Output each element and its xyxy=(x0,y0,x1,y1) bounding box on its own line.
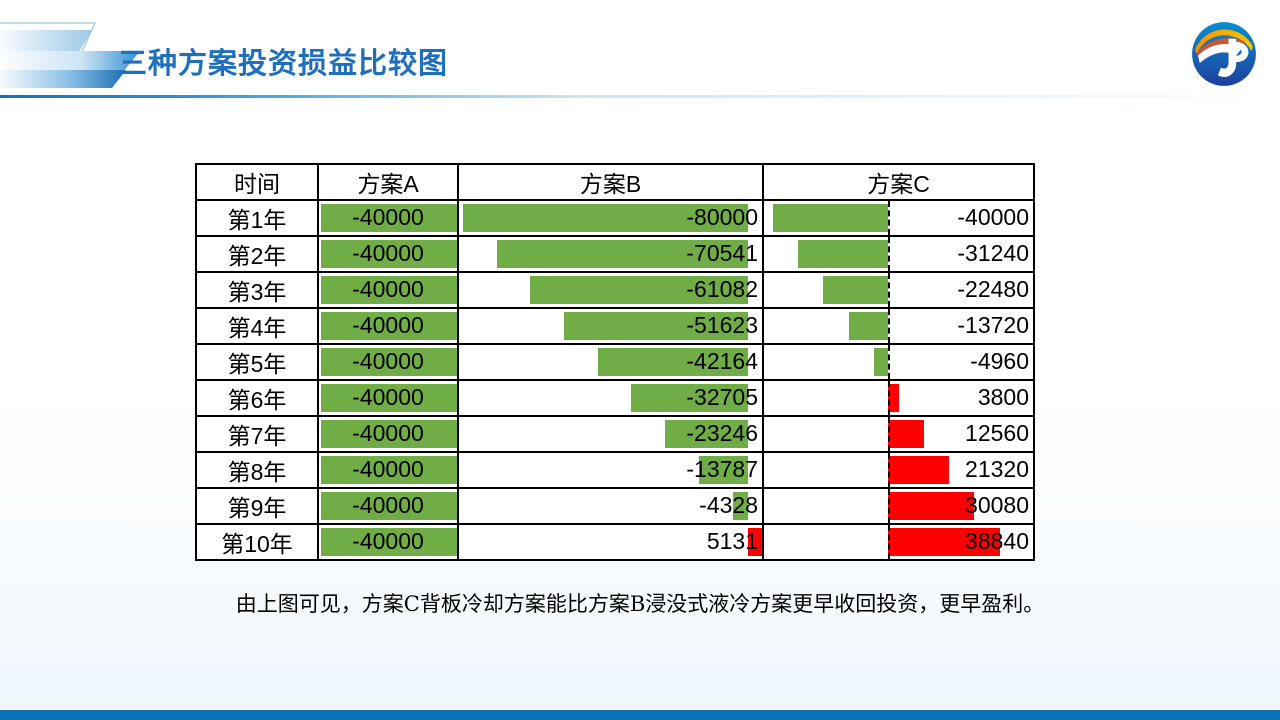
page-title: 三种方案投资损益比较图 xyxy=(118,40,448,82)
table-header-row: 时间 方案A 方案B 方案C xyxy=(196,164,1034,200)
value-plan-c: 38840 xyxy=(764,525,1033,559)
value-plan-b: -80000 xyxy=(459,201,762,235)
cell-plan-a: -40000 xyxy=(318,200,458,236)
value-plan-a: -40000 xyxy=(319,381,457,415)
cell-plan-c: 3800 xyxy=(763,380,1034,416)
row-label-time: 第10年 xyxy=(196,524,318,560)
table-row: 第6年-40000-327053800 xyxy=(196,380,1034,416)
cell-plan-c: 21320 xyxy=(763,452,1034,488)
cell-plan-b: 5131 xyxy=(458,524,763,560)
value-plan-c: -31240 xyxy=(764,237,1033,271)
cell-plan-b: -42164 xyxy=(458,344,763,380)
value-plan-c: 12560 xyxy=(764,417,1033,451)
cell-plan-b: -51623 xyxy=(458,308,763,344)
caption-text: 由上图可见，方案C背板冷却方案能比方案B浸没式液冷方案更早收回投资，更早盈利。 xyxy=(0,588,1280,618)
cell-plan-b: -23246 xyxy=(458,416,763,452)
cell-plan-c: -4960 xyxy=(763,344,1034,380)
column-header-time: 时间 xyxy=(196,164,318,200)
cell-plan-b: -4328 xyxy=(458,488,763,524)
table-row: 第10年-40000513138840 xyxy=(196,524,1034,560)
table-row: 第7年-40000-2324612560 xyxy=(196,416,1034,452)
cell-plan-a: -40000 xyxy=(318,488,458,524)
value-plan-c: -13720 xyxy=(764,309,1033,343)
cell-plan-c: -13720 xyxy=(763,308,1034,344)
table-row: 第1年-40000-80000-40000 xyxy=(196,200,1034,236)
value-plan-b: -51623 xyxy=(459,309,762,343)
value-plan-a: -40000 xyxy=(319,345,457,379)
company-logo-icon xyxy=(1186,16,1262,92)
value-plan-c: 21320 xyxy=(764,453,1033,487)
cell-plan-a: -40000 xyxy=(318,272,458,308)
value-plan-b: -13787 xyxy=(459,453,762,487)
column-header-plan-a: 方案A xyxy=(318,164,458,200)
value-plan-a: -40000 xyxy=(319,525,457,559)
row-label-time: 第9年 xyxy=(196,488,318,524)
cell-plan-b: -13787 xyxy=(458,452,763,488)
value-plan-b: -42164 xyxy=(459,345,762,379)
comparison-table: 时间 方案A 方案B 方案C 第1年-40000-80000-40000第2年-… xyxy=(195,163,1035,561)
value-plan-a: -40000 xyxy=(319,201,457,235)
cell-plan-a: -40000 xyxy=(318,380,458,416)
value-plan-b: 5131 xyxy=(459,525,762,559)
cell-plan-b: -70541 xyxy=(458,236,763,272)
slide-header: 三种方案投资损益比较图 xyxy=(0,0,1280,98)
comparison-table-container: 时间 方案A 方案B 方案C 第1年-40000-80000-40000第2年-… xyxy=(195,163,1033,561)
value-plan-a: -40000 xyxy=(319,309,457,343)
cell-plan-b: -80000 xyxy=(458,200,763,236)
table-row: 第5年-40000-42164-4960 xyxy=(196,344,1034,380)
cell-plan-a: -40000 xyxy=(318,308,458,344)
column-header-plan-b: 方案B xyxy=(458,164,763,200)
table-body: 第1年-40000-80000-40000第2年-40000-70541-312… xyxy=(196,200,1034,560)
cell-plan-c: -31240 xyxy=(763,236,1034,272)
value-plan-b: -32705 xyxy=(459,381,762,415)
value-plan-c: -4960 xyxy=(764,345,1033,379)
value-plan-c: -40000 xyxy=(764,201,1033,235)
cell-plan-b: -32705 xyxy=(458,380,763,416)
cell-plan-c: -22480 xyxy=(763,272,1034,308)
cell-plan-c: 12560 xyxy=(763,416,1034,452)
value-plan-c: 3800 xyxy=(764,381,1033,415)
value-plan-a: -40000 xyxy=(319,417,457,451)
table-row: 第2年-40000-70541-31240 xyxy=(196,236,1034,272)
header-divider xyxy=(0,95,1280,98)
column-header-plan-c: 方案C xyxy=(763,164,1034,200)
value-plan-c: 30080 xyxy=(764,489,1033,523)
cell-plan-a: -40000 xyxy=(318,416,458,452)
cell-plan-a: -40000 xyxy=(318,452,458,488)
table-row: 第9年-40000-432830080 xyxy=(196,488,1034,524)
row-label-time: 第3年 xyxy=(196,272,318,308)
table-row: 第3年-40000-61082-22480 xyxy=(196,272,1034,308)
table-row: 第8年-40000-1378721320 xyxy=(196,452,1034,488)
value-plan-c: -22480 xyxy=(764,273,1033,307)
value-plan-b: -23246 xyxy=(459,417,762,451)
value-plan-a: -40000 xyxy=(319,453,457,487)
row-label-time: 第2年 xyxy=(196,236,318,272)
table-row: 第4年-40000-51623-13720 xyxy=(196,308,1034,344)
cell-plan-c: 38840 xyxy=(763,524,1034,560)
row-label-time: 第1年 xyxy=(196,200,318,236)
cell-plan-a: -40000 xyxy=(318,236,458,272)
value-plan-a: -40000 xyxy=(319,237,457,271)
value-plan-a: -40000 xyxy=(319,489,457,523)
cell-plan-b: -61082 xyxy=(458,272,763,308)
footer-bar xyxy=(0,710,1280,720)
value-plan-b: -4328 xyxy=(459,489,762,523)
value-plan-b: -61082 xyxy=(459,273,762,307)
cell-plan-a: -40000 xyxy=(318,344,458,380)
row-label-time: 第6年 xyxy=(196,380,318,416)
value-plan-b: -70541 xyxy=(459,237,762,271)
cell-plan-c: 30080 xyxy=(763,488,1034,524)
row-label-time: 第8年 xyxy=(196,452,318,488)
cell-plan-c: -40000 xyxy=(763,200,1034,236)
cell-plan-a: -40000 xyxy=(318,524,458,560)
value-plan-a: -40000 xyxy=(319,273,457,307)
row-label-time: 第5年 xyxy=(196,344,318,380)
row-label-time: 第4年 xyxy=(196,308,318,344)
row-label-time: 第7年 xyxy=(196,416,318,452)
